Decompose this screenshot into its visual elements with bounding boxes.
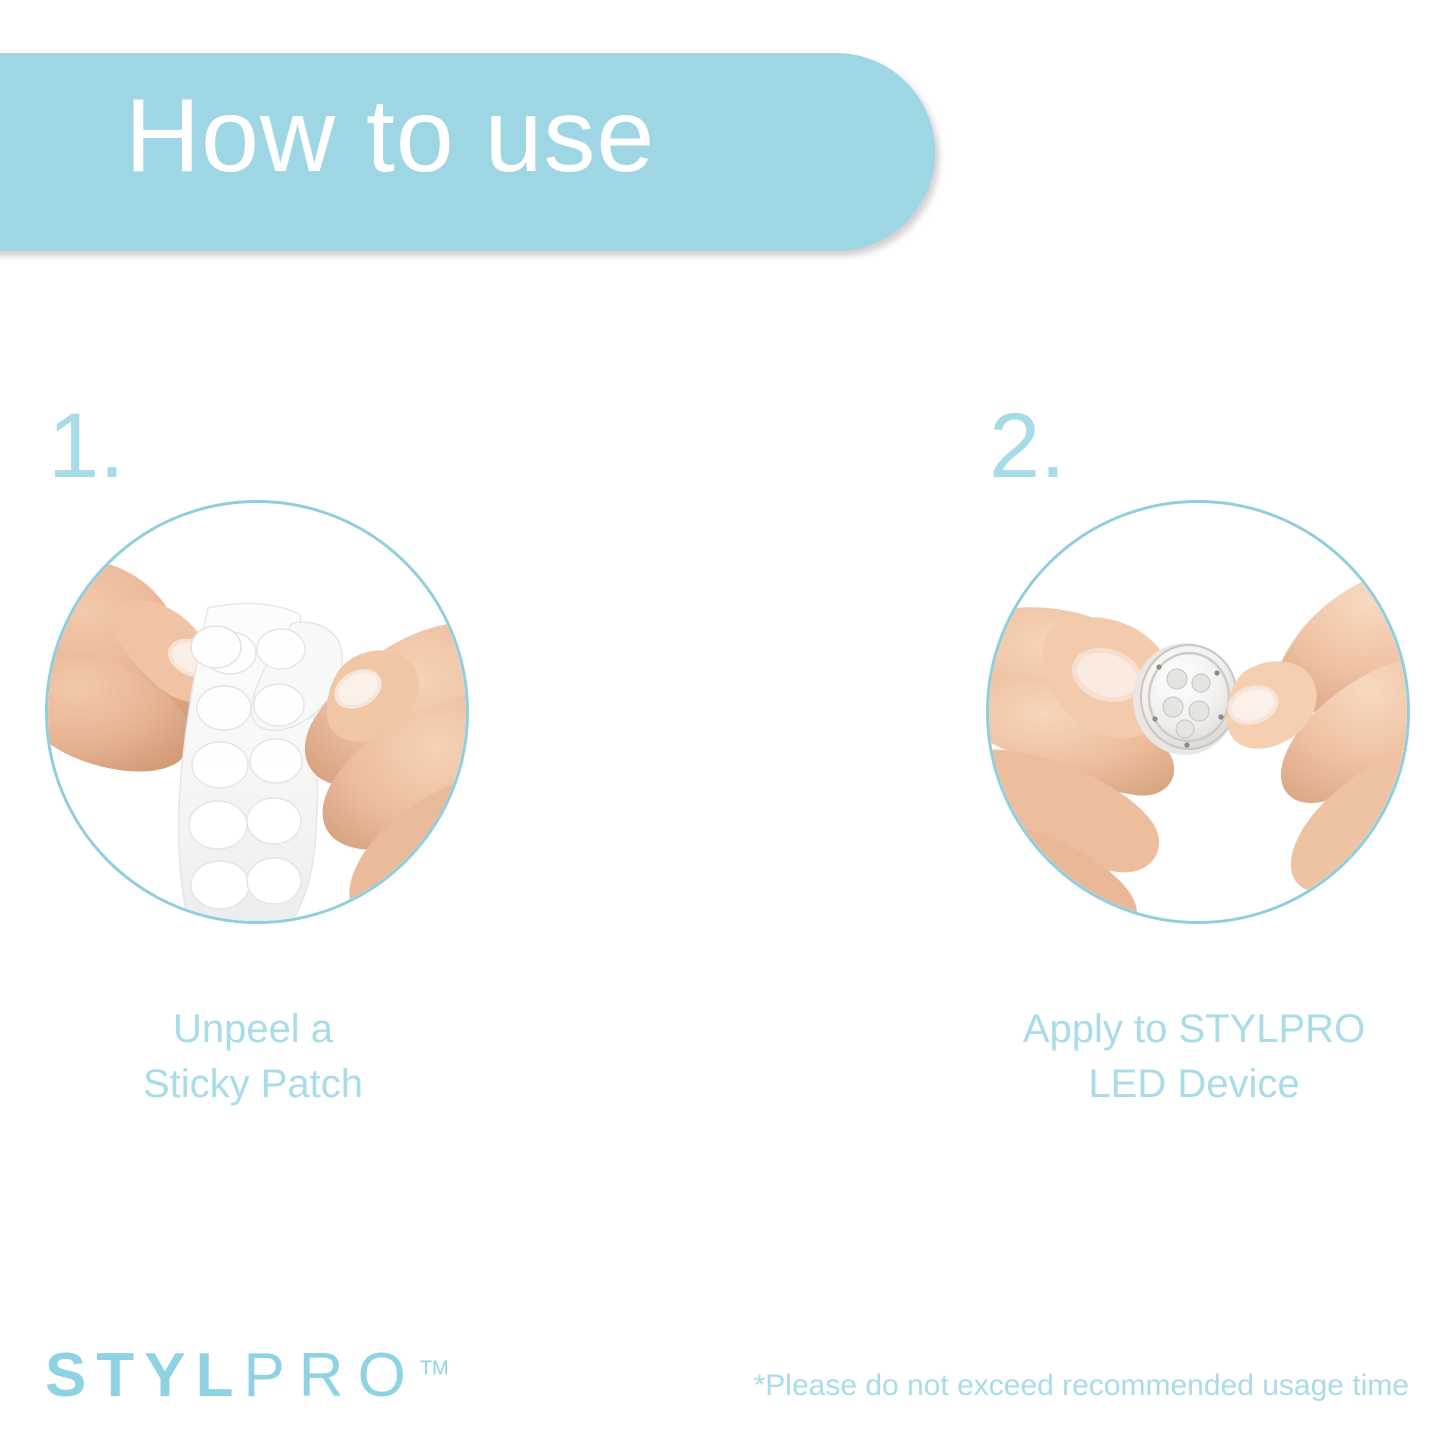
step-2-photo	[986, 500, 1410, 924]
logo-trademark: TM	[420, 1357, 449, 1379]
step-2-number: 2.	[989, 400, 1066, 492]
step-1-caption-line-1: Unpeel a	[33, 1002, 473, 1057]
step-1-caption: Unpeel a Sticky Patch	[33, 1002, 473, 1112]
step-2-caption-line-1: Apply to STYLPRO	[974, 1002, 1414, 1057]
step-1-photo	[45, 500, 469, 924]
logo-pro: PRO	[243, 1341, 419, 1410]
unpeel-patch-illustration	[48, 503, 466, 921]
step-2-caption: Apply to STYLPRO LED Device	[974, 1002, 1414, 1112]
usage-footnote: *Please do not exceed recommended usage …	[754, 1369, 1409, 1403]
apply-patch-to-device-illustration	[989, 503, 1407, 921]
logo-styl: STYL	[45, 1341, 243, 1410]
step-1-number: 1.	[48, 400, 125, 492]
step-1-caption-line-2: Sticky Patch	[33, 1057, 473, 1112]
stylpro-logo: STYLPROTM	[45, 1345, 449, 1407]
page-title: How to use	[125, 84, 655, 188]
step-2-caption-line-2: LED Device	[974, 1057, 1414, 1112]
